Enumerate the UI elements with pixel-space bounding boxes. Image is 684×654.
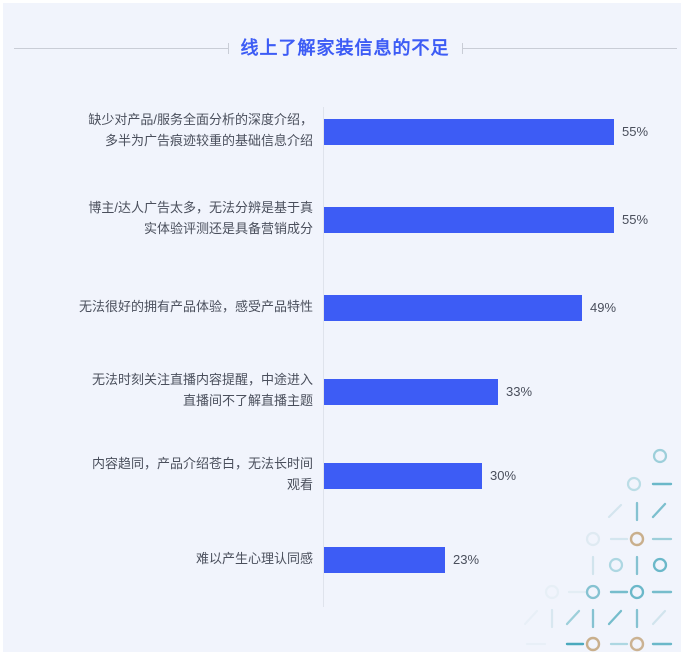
- bar-row: 难以产生心理认同感 23%: [3, 535, 684, 583]
- bar-value-label: 49%: [590, 295, 616, 321]
- bar-fill[interactable]: [324, 379, 498, 405]
- bar-fill[interactable]: [324, 119, 614, 145]
- bar-fill[interactable]: [324, 463, 482, 489]
- page-title: 线上了解家装信息的不足: [229, 39, 462, 57]
- bar-fill[interactable]: [324, 207, 614, 233]
- title-tick-right: [462, 43, 463, 54]
- bar-track: [324, 547, 445, 573]
- bar-category-label: 博主/达人广告太多，无法分辨是基于真 实体验评测还是具备营销成分: [43, 197, 313, 239]
- title-rule-right: [462, 48, 677, 49]
- bar-value-label: 30%: [490, 463, 516, 489]
- bar-category-label: 内容趋同，产品介绍苍白，无法长时间 观看: [43, 453, 313, 495]
- plot-area: 缺少对产品/服务全面分析的深度介绍， 多半为广告痕迹较重的基础信息介绍 55% …: [3, 107, 684, 607]
- bar-fill[interactable]: [324, 295, 582, 321]
- bar-track: [324, 207, 614, 233]
- title-tick-left: [228, 43, 229, 54]
- chart-container: 线上了解家装信息的不足 缺少对产品/服务全面分析的深度介绍， 多半为广告痕迹较重…: [0, 0, 684, 654]
- bar-track: [324, 463, 482, 489]
- bar-value-label: 33%: [506, 379, 532, 405]
- bar-value-label: 55%: [622, 119, 648, 145]
- bar-category-label: 无法时刻关注直播内容提醒，中途进入 直播间不了解直播主题: [43, 369, 313, 411]
- bar-category-label: 缺少对产品/服务全面分析的深度介绍， 多半为广告痕迹较重的基础信息介绍: [43, 109, 313, 151]
- chart-title-row: 线上了解家装信息的不足: [3, 39, 684, 57]
- bar-category-label: 无法很好的拥有产品体验，感受产品特性: [43, 296, 313, 317]
- bar-track: [324, 119, 614, 145]
- bar-row: 无法时刻关注直播内容提醒，中途进入 直播间不了解直播主题 33%: [3, 367, 684, 415]
- bar-value-label: 23%: [453, 547, 479, 573]
- bar-value-label: 55%: [622, 207, 648, 233]
- bar-row: 内容趋同，产品介绍苍白，无法长时间 观看 30%: [3, 451, 684, 499]
- bar-track: [324, 379, 498, 405]
- bar-track: [324, 295, 582, 321]
- bar-row: 无法很好的拥有产品体验，感受产品特性 49%: [3, 283, 684, 331]
- bar-fill[interactable]: [324, 547, 445, 573]
- bar-row: 博主/达人广告太多，无法分辨是基于真 实体验评测还是具备营销成分 55%: [3, 195, 684, 243]
- bar-row: 缺少对产品/服务全面分析的深度介绍， 多半为广告痕迹较重的基础信息介绍 55%: [3, 107, 684, 155]
- bar-category-label: 难以产生心理认同感: [43, 548, 313, 569]
- title-rule-left: [14, 48, 229, 49]
- category-axis-line: [323, 107, 324, 607]
